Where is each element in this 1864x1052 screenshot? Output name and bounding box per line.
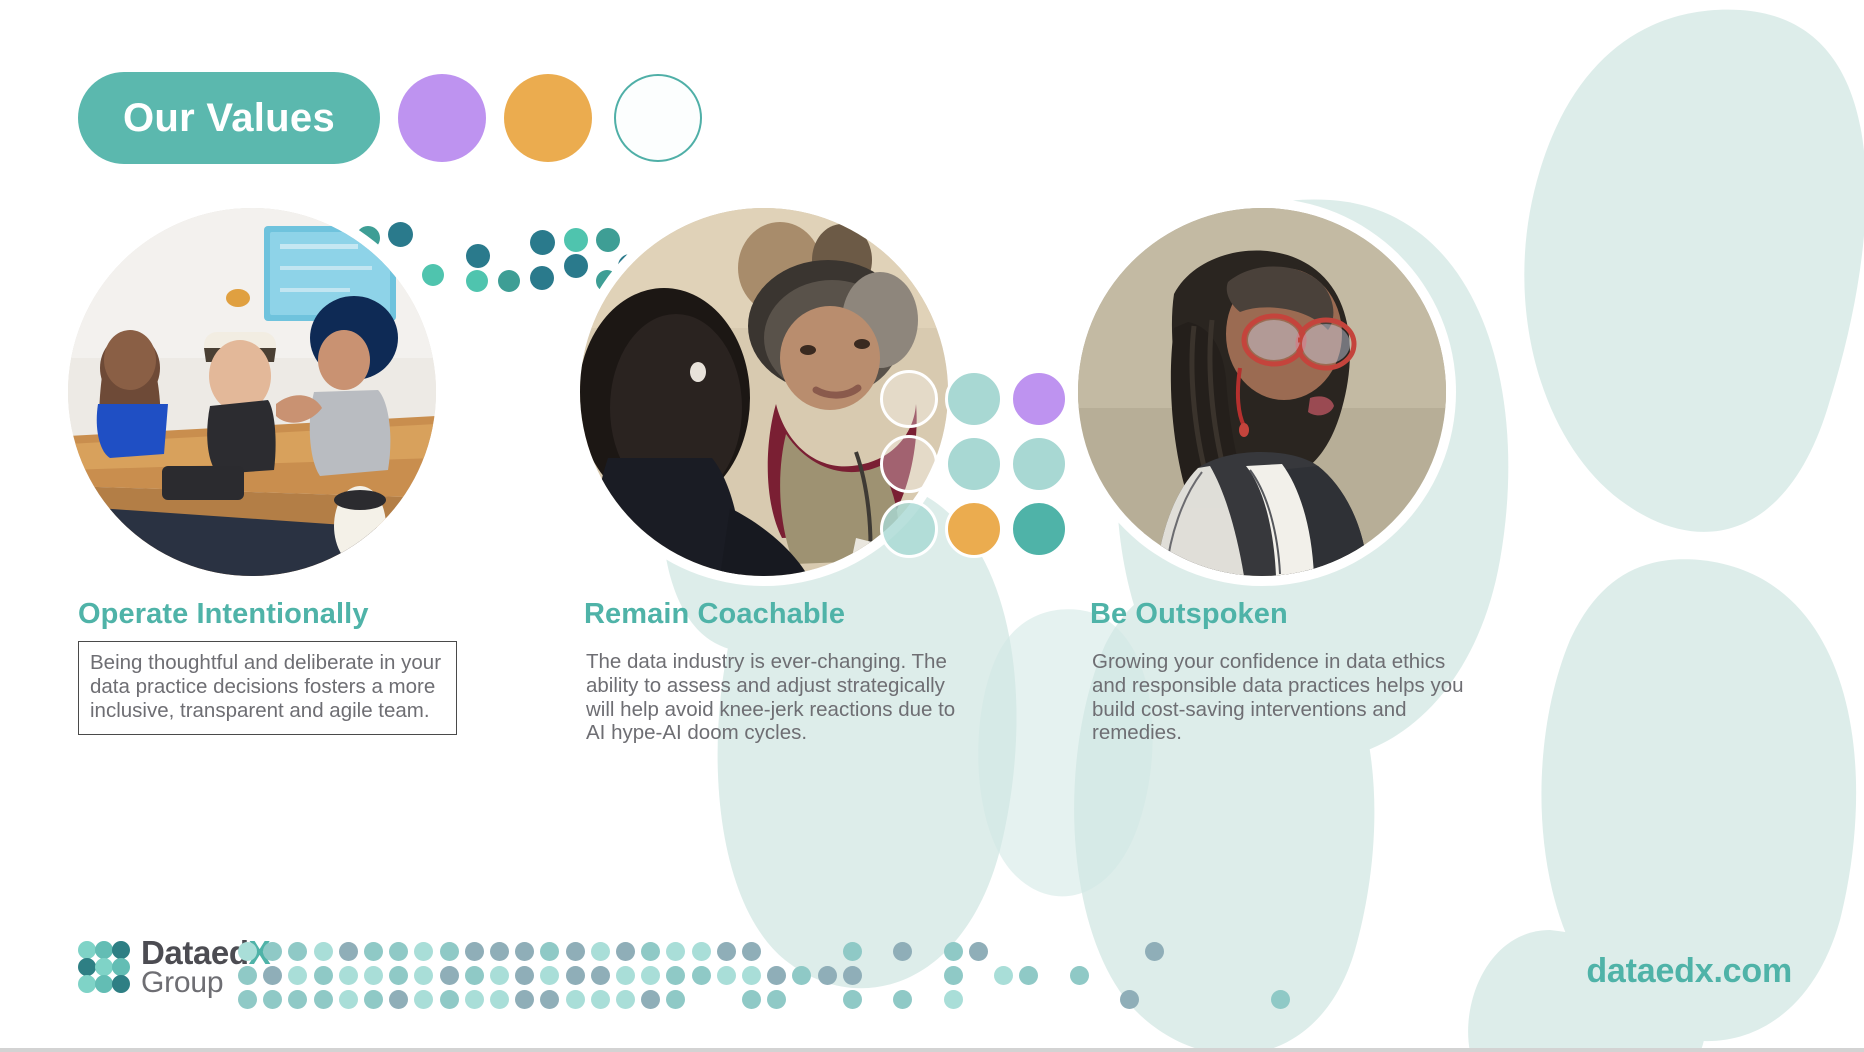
footer-dot: [717, 942, 736, 961]
footer-dot: [465, 966, 484, 985]
footer-dot: [767, 990, 786, 1009]
footer-dot: [238, 990, 257, 1009]
footer-dot: [263, 966, 282, 985]
footer-dot: [339, 990, 358, 1009]
footer-dot: [314, 942, 333, 961]
footer-dot: [616, 942, 635, 961]
value-heading-2: Remain Coachable: [584, 598, 978, 631]
footer-dot: [692, 966, 711, 985]
footer-dot: [540, 966, 559, 985]
footer-dot: [490, 990, 509, 1009]
accent-circle-grid: [880, 370, 1068, 558]
grid-circle-r1c2: [945, 370, 1003, 428]
footer-dot: [591, 966, 610, 985]
slide-bottom-divider: [0, 1048, 1864, 1052]
logo-dot-grid-icon: [78, 941, 130, 993]
footer-dot: [843, 990, 862, 1009]
footer-dot: [515, 966, 534, 985]
footer-dot: [263, 942, 282, 961]
footer-dot: [490, 942, 509, 961]
footer-dot: [238, 942, 257, 961]
value-heading-1: Operate Intentionally: [78, 598, 470, 631]
footer-dot: [389, 942, 408, 961]
footer-dot: [440, 966, 459, 985]
grid-circle-r2c3: [1010, 435, 1068, 493]
footer-dot: [389, 990, 408, 1009]
footer-dot: [490, 966, 509, 985]
footer-dot: [314, 990, 333, 1009]
footer-dot: [540, 942, 559, 961]
footer-dot: [566, 966, 585, 985]
outline-dot-icon: [614, 74, 702, 162]
footer-dot: [389, 966, 408, 985]
value-photo-1: [68, 208, 436, 576]
grid-circle-r2c2: [945, 435, 1003, 493]
footer-dot: [1145, 942, 1164, 961]
footer-dot: [1271, 990, 1290, 1009]
footer-dot: [717, 966, 736, 985]
grid-circle-r3c1: [880, 500, 938, 558]
footer-dot: [994, 966, 1013, 985]
footer-dot: [893, 942, 912, 961]
footer-dot: [742, 990, 761, 1009]
footer-dot: [616, 966, 635, 985]
footer-dot: [364, 990, 383, 1009]
footer-dot: [843, 966, 862, 985]
grid-circle-r1c3: [1010, 370, 1068, 428]
website-url[interactable]: dataedx.com: [1586, 952, 1792, 991]
purple-dot-icon: [398, 74, 486, 162]
footer-dot: [540, 990, 559, 1009]
footer-dot: [641, 942, 660, 961]
footer-dot: [339, 966, 358, 985]
footer-dot: [238, 966, 257, 985]
footer-dot: [641, 990, 660, 1009]
footer-dot: [944, 990, 963, 1009]
footer-dot: [591, 942, 610, 961]
footer-dot: [465, 990, 484, 1009]
value-body-3: Growing your confidence in data ethics a…: [1090, 641, 1468, 745]
footer-dot: [515, 990, 534, 1009]
footer-dot: [666, 966, 685, 985]
footer-dot-pattern: [238, 942, 1288, 1014]
footer-dot: [263, 990, 282, 1009]
page-title: Our Values: [78, 72, 380, 164]
grid-circle-r1c1: [880, 370, 938, 428]
footer-dot: [414, 942, 433, 961]
footer-dot: [288, 942, 307, 961]
footer-dot: [641, 966, 660, 985]
grid-circle-r3c2: [945, 500, 1003, 558]
footer-dot: [692, 942, 711, 961]
value-body-1: Being thoughtful and deliberate in your …: [78, 641, 457, 735]
grid-circle-r2c1: [880, 435, 938, 493]
value-card-2: Remain Coachable The data industry is ev…: [584, 598, 978, 745]
footer-dot: [742, 966, 761, 985]
value-heading-3: Be Outspoken: [1090, 598, 1468, 631]
footer-dot: [288, 990, 307, 1009]
slide-title-row: Our Values: [78, 72, 702, 164]
orange-dot-icon: [504, 74, 592, 162]
footer-dot: [1019, 966, 1038, 985]
value-body-2: The data industry is ever-changing. The …: [584, 641, 978, 745]
slide-canvas: Our Values: [0, 0, 1864, 1052]
footer-dot: [339, 942, 358, 961]
footer-dot: [666, 942, 685, 961]
footer-dot: [616, 990, 635, 1009]
footer-dot: [843, 942, 862, 961]
footer-dot: [515, 942, 534, 961]
footer-dot: [1120, 990, 1139, 1009]
footer-dot: [288, 966, 307, 985]
footer-dot: [364, 966, 383, 985]
footer-dot: [742, 942, 761, 961]
value-photo-3: [1078, 208, 1446, 576]
footer-dot: [792, 966, 811, 985]
grid-circle-r3c3: [1010, 500, 1068, 558]
footer-dot: [767, 966, 786, 985]
value-card-1: Operate Intentionally Being thoughtful a…: [78, 598, 470, 735]
value-card-3: Be Outspoken Growing your confidence in …: [1090, 598, 1468, 745]
footer-dot: [818, 966, 837, 985]
footer-dot: [591, 990, 610, 1009]
footer-dot: [440, 942, 459, 961]
footer-dot: [465, 942, 484, 961]
footer-dot: [944, 966, 963, 985]
footer-dot: [364, 942, 383, 961]
footer-dot: [944, 942, 963, 961]
footer-dot: [566, 942, 585, 961]
footer-dot: [314, 966, 333, 985]
footer-dot: [893, 990, 912, 1009]
footer-dot: [969, 942, 988, 961]
footer-dot: [1070, 966, 1089, 985]
footer-dot: [566, 990, 585, 1009]
footer-dot: [414, 990, 433, 1009]
footer-dot: [414, 966, 433, 985]
page-title-label: Our Values: [123, 96, 335, 141]
footer-dot: [666, 990, 685, 1009]
footer-dot: [440, 990, 459, 1009]
